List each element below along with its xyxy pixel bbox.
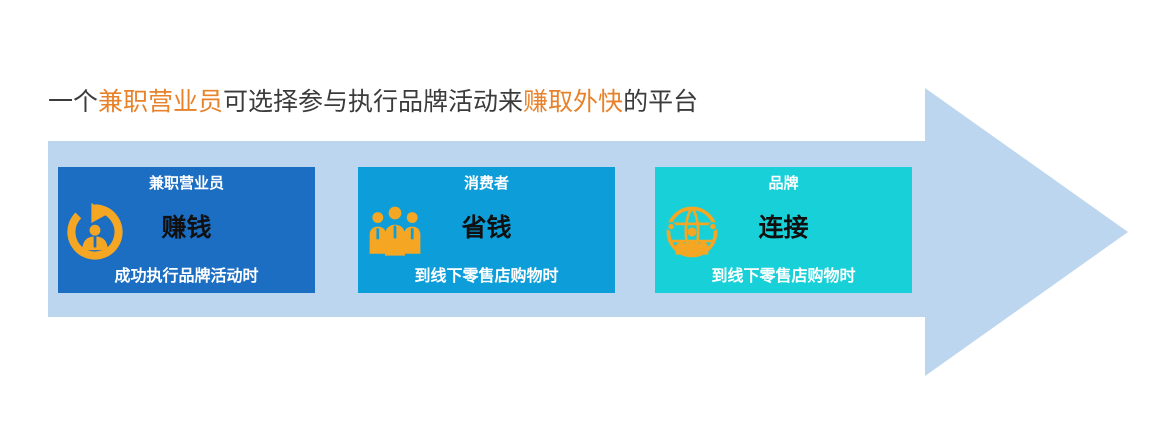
card-value: 省钱 — [358, 214, 615, 244]
benefit-card-brand[interactable]: 品牌 连接 到线下零售店购物时 — [655, 167, 912, 293]
benefit-card-part-time-salesperson[interactable]: 兼职营业员 赚钱 成功执行品牌活动时 — [58, 167, 315, 293]
headline-segment-0: 一个 — [48, 89, 98, 116]
headline-segment-4: 的平台 — [623, 89, 698, 116]
card-title: 兼职营业员 — [58, 174, 315, 194]
headline-segment-2: 可选择参与执行品牌活动来 — [223, 89, 523, 116]
card-title: 消费者 — [358, 174, 615, 194]
card-title: 品牌 — [655, 174, 912, 194]
page-title: 一个兼职营业员可选择参与执行品牌活动来赚取外快的平台 — [48, 86, 698, 120]
card-value: 连接 — [655, 214, 912, 244]
card-footer: 到线下零售店购物时 — [358, 266, 615, 287]
benefit-card-consumer[interactable]: 消费者 省钱 到线下零售店购物时 — [358, 167, 615, 293]
card-footer: 到线下零售店购物时 — [655, 266, 912, 287]
headline-segment-3-highlight: 赚取外快 — [523, 89, 623, 116]
card-footer: 成功执行品牌活动时 — [58, 266, 315, 287]
card-value: 赚钱 — [58, 214, 315, 244]
headline-segment-1-highlight: 兼职营业员 — [98, 89, 223, 116]
